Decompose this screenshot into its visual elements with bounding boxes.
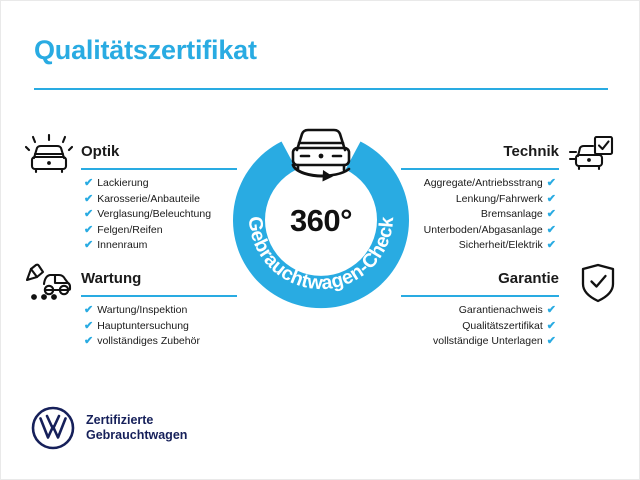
page-title: Qualitätszertifikat [34,35,257,66]
list-item-label: Bremsanlage [481,207,543,223]
list-item-label: Garantienachweis [459,303,543,319]
list-item: Unterboden/Abgasanlage ✔ [401,223,556,239]
section-title-wartung: Wartung [81,269,237,289]
check-icon: ✔ [84,321,93,332]
vw-logo-icon [31,406,75,450]
checklist-optik: ✔ Lackierung ✔ Karosserie/Anbauteile ✔ V… [81,176,237,254]
check-icon: ✔ [547,240,556,251]
list-item: ✔ Felgen/Reifen [84,223,237,239]
list-item-label: Karosserie/Anbauteile [97,192,200,208]
list-item: Garantienachweis ✔ [401,303,556,319]
list-item-label: Aggregate/Antriebsstrang [424,176,543,192]
footer-line-1: Zertifizierte [86,413,153,427]
car-checkbox-icon [567,134,615,176]
certificate-page: Qualitätszertifikat Optik [0,0,640,480]
list-item-label: Qualitätszertifikat [462,319,543,335]
car-shine-icon [25,134,73,176]
section-divider-wartung [81,295,237,297]
list-item: ✔ Verglasung/Beleuchtung [84,207,237,223]
checklist-garantie: Garantienachweis ✔ Qualitätszertifikat ✔… [401,303,559,350]
footer-line-2: Gebrauchtwagen [86,428,187,442]
check-icon: ✔ [547,209,556,220]
section-title-technik: Technik [401,142,559,162]
checklist-wartung: ✔ Wartung/Inspektion ✔ Hauptuntersuchung… [81,303,237,350]
check-icon: ✔ [547,225,556,236]
check-icon: ✔ [84,225,93,236]
check-icon: ✔ [547,336,556,347]
badge-center-label: 360° [223,203,419,239]
shield-check-icon [574,262,622,304]
list-item: Lenkung/Fahrwerk ✔ [401,192,556,208]
list-item: ✔ Karosserie/Anbauteile [84,192,237,208]
list-item-label: Hauptuntersuchung [97,319,189,335]
section-technik: Technik Aggregate/Antriebsstrang ✔ Lenku… [401,142,559,254]
check-icon: ✔ [547,321,556,332]
list-item: Aggregate/Antriebsstrang ✔ [401,176,556,192]
car-rotation-icon [293,130,349,182]
check-icon: ✔ [84,336,93,347]
badge-360-gebrauchtwagen-check: Gebrauchtwagen-Check [223,119,419,315]
section-garantie: Garantie Garantienachweis ✔ Qualitätszer… [401,269,559,350]
list-item-label: vollständige Unterlagen [433,334,543,350]
section-title-optik: Optik [81,142,237,162]
list-item: Bremsanlage ✔ [401,207,556,223]
list-item: ✔ Hauptuntersuchung [84,319,237,335]
section-wartung: Wartung ✔ Wartung/Inspektion ✔ Hauptunte… [81,269,237,350]
footer-brand: ZertifizierteGebrauchtwagen [31,406,187,450]
list-item: ✔ vollständiges Zubehör [84,334,237,350]
list-item-label: Lackierung [97,176,148,192]
check-icon: ✔ [84,209,93,220]
list-item: Sicherheit/Elektrik ✔ [401,238,556,254]
check-icon: ✔ [84,240,93,251]
section-divider-garantie [401,295,559,297]
list-item-label: Unterboden/Abgasanlage [424,223,543,239]
check-icon: ✔ [547,194,556,205]
list-item: ✔ Innenraum [84,238,237,254]
section-optik: Optik ✔ Lackierung ✔ Karosserie/Anbautei… [81,142,237,254]
rotation-arrow-head [323,170,334,182]
list-item: Qualitätszertifikat ✔ [401,319,556,335]
section-header-technik: Technik [401,142,559,172]
list-item-label: Felgen/Reifen [97,223,162,239]
section-header-optik: Optik [81,142,237,172]
section-header-garantie: Garantie [401,269,559,299]
checklist-technik: Aggregate/Antriebsstrang ✔ Lenkung/Fahrw… [401,176,559,254]
section-divider-optik [81,168,237,170]
list-item: ✔ Lackierung [84,176,237,192]
list-item: vollständige Unterlagen ✔ [401,334,556,350]
list-item-label: Innenraum [97,238,147,254]
check-icon: ✔ [84,305,93,316]
list-item: ✔ Wartung/Inspektion [84,303,237,319]
title-divider [34,88,608,90]
car-service-pen-icon [25,262,73,304]
check-icon: ✔ [547,305,556,316]
section-divider-technik [401,168,559,170]
list-item-label: Verglasung/Beleuchtung [97,207,211,223]
check-icon: ✔ [84,178,93,189]
section-header-wartung: Wartung [81,269,237,299]
list-item-label: vollständiges Zubehör [97,334,200,350]
check-icon: ✔ [84,194,93,205]
list-item-label: Sicherheit/Elektrik [459,238,543,254]
list-item-label: Lenkung/Fahrwerk [456,192,543,208]
footer-brand-text: ZertifizierteGebrauchtwagen [86,413,187,443]
check-icon: ✔ [547,178,556,189]
section-title-garantie: Garantie [401,269,559,289]
list-item-label: Wartung/Inspektion [97,303,187,319]
